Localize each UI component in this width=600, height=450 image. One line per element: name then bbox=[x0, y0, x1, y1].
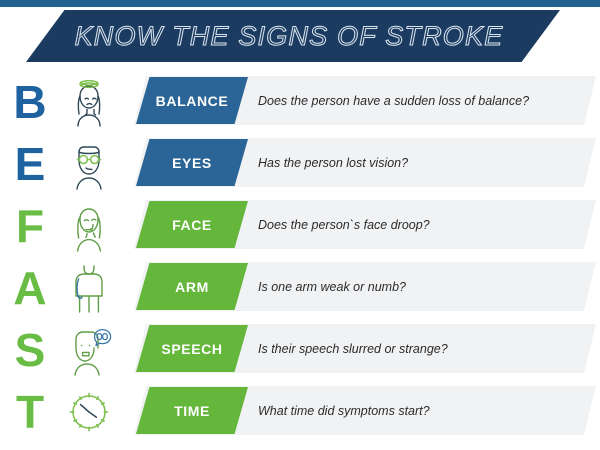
label-tag[interactable]: SPEECH bbox=[136, 325, 248, 372]
top-accent-strip bbox=[0, 0, 600, 7]
label-tag[interactable]: ARM bbox=[136, 263, 248, 310]
drooping-face-icon bbox=[58, 197, 120, 255]
acronym-letter: T bbox=[6, 382, 54, 442]
question-text: Has the person lost vision? bbox=[258, 134, 408, 192]
dizzy-person-icon bbox=[58, 73, 120, 131]
question-text: What time did symptoms start? bbox=[258, 382, 430, 440]
weak-arm-icon bbox=[58, 259, 120, 317]
label-tag[interactable]: BALANCE bbox=[136, 77, 248, 124]
list-item[interactable]: T TIME What time did symptoms start? bbox=[0, 382, 600, 442]
person-glasses-icon bbox=[58, 135, 120, 193]
label-tag[interactable]: TIME bbox=[136, 387, 248, 434]
label-text: EYES bbox=[172, 155, 212, 171]
list-item[interactable]: F FACE Does the person`s fa bbox=[0, 196, 600, 256]
question-text: Is their speech slurred or strange? bbox=[258, 320, 448, 378]
header-banner: KNOW THE SIGNS OF STROKE bbox=[26, 10, 560, 62]
label-tag[interactable]: FACE bbox=[136, 201, 248, 248]
question-text: Is one arm weak or numb? bbox=[258, 258, 406, 316]
list-item[interactable]: A ARM Is one arm weak or numb? bbox=[0, 258, 600, 318]
list-item[interactable]: S SPE bbox=[0, 320, 600, 380]
page-title: KNOW THE SIGNS OF STROKE bbox=[75, 21, 504, 52]
acronym-letter: A bbox=[6, 258, 54, 318]
signs-list: B bbox=[0, 72, 600, 444]
list-item[interactable]: E EYE bbox=[0, 134, 600, 194]
acronym-letter: F bbox=[6, 196, 54, 256]
infographic-page: KNOW THE SIGNS OF STROKE B bbox=[0, 0, 600, 450]
label-text: SPEECH bbox=[161, 341, 222, 357]
speech-bubble-person-icon bbox=[58, 321, 120, 379]
list-item[interactable]: B bbox=[0, 72, 600, 132]
label-text: TIME bbox=[174, 403, 210, 419]
clock-icon bbox=[58, 383, 120, 441]
label-text: FACE bbox=[172, 217, 212, 233]
acronym-letter: S bbox=[6, 320, 54, 380]
acronym-letter: B bbox=[6, 72, 54, 132]
label-tag[interactable]: EYES bbox=[136, 139, 248, 186]
label-text: ARM bbox=[175, 279, 209, 295]
label-text: BALANCE bbox=[156, 93, 229, 109]
question-text: Does the person have a sudden loss of ba… bbox=[258, 72, 529, 130]
question-text: Does the person`s face droop? bbox=[258, 196, 430, 254]
acronym-letter: E bbox=[6, 134, 54, 194]
